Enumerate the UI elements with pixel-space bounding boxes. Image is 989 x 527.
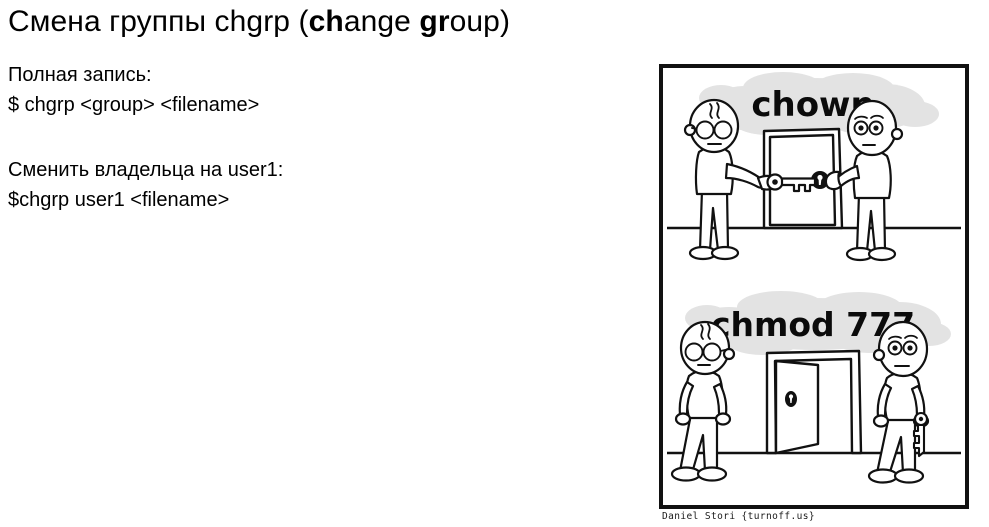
comic-illustration: chown	[659, 64, 969, 509]
comic-bottom-panel: chmod 777	[667, 291, 961, 483]
change-owner-command: $chgrp user1 <filename>	[8, 185, 283, 215]
change-owner-block: Сменить владельца на user1: $chgrp user1…	[8, 155, 283, 215]
full-syntax-label: Полная запись:	[8, 60, 259, 90]
full-syntax-block: Полная запись: $ chgrp <group> <filename…	[8, 60, 259, 120]
page-title: Смена группы chgrp (change group)	[8, 2, 510, 42]
open-door-keyhole	[785, 391, 797, 407]
page-title-part-3: oup)	[450, 5, 510, 38]
page-title-part-1: Смена группы chgrp (	[8, 5, 309, 38]
comic-credit: Daniel Stori {turnoff.us}	[662, 511, 815, 522]
figure-left-bottom	[672, 322, 734, 481]
open-door	[767, 351, 861, 453]
change-owner-label: Сменить владельца на user1:	[8, 155, 283, 185]
comic-svg: chown	[663, 68, 965, 505]
page-title-part-2: ange	[344, 5, 420, 38]
full-syntax-command: $ chgrp <group> <filename>	[8, 90, 259, 120]
comic-top-panel: chown	[667, 72, 961, 260]
page-title-bold-ch: ch	[309, 5, 344, 38]
page-title-bold-gr: gr	[419, 5, 449, 38]
